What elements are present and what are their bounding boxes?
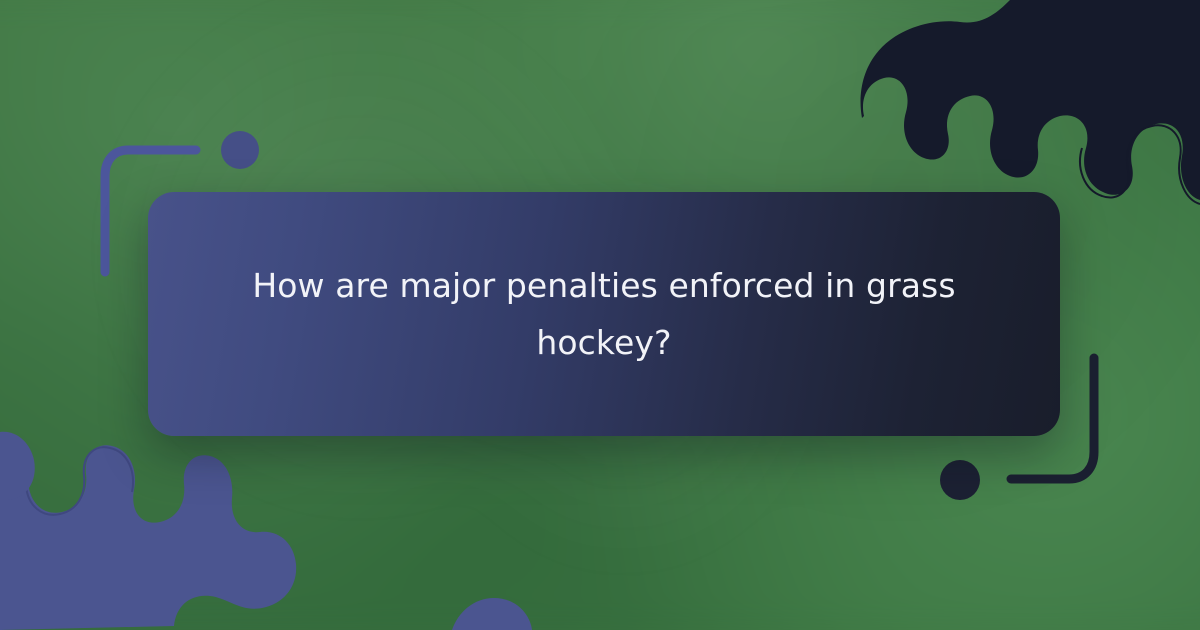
question-text: How are major penalties enforced in gras… bbox=[234, 257, 974, 371]
accent-dot-bottom-right bbox=[940, 460, 980, 500]
poster-canvas: How are major penalties enforced in gras… bbox=[0, 0, 1200, 630]
accent-dot-top-left bbox=[221, 131, 259, 169]
question-card: How are major penalties enforced in gras… bbox=[148, 192, 1060, 436]
